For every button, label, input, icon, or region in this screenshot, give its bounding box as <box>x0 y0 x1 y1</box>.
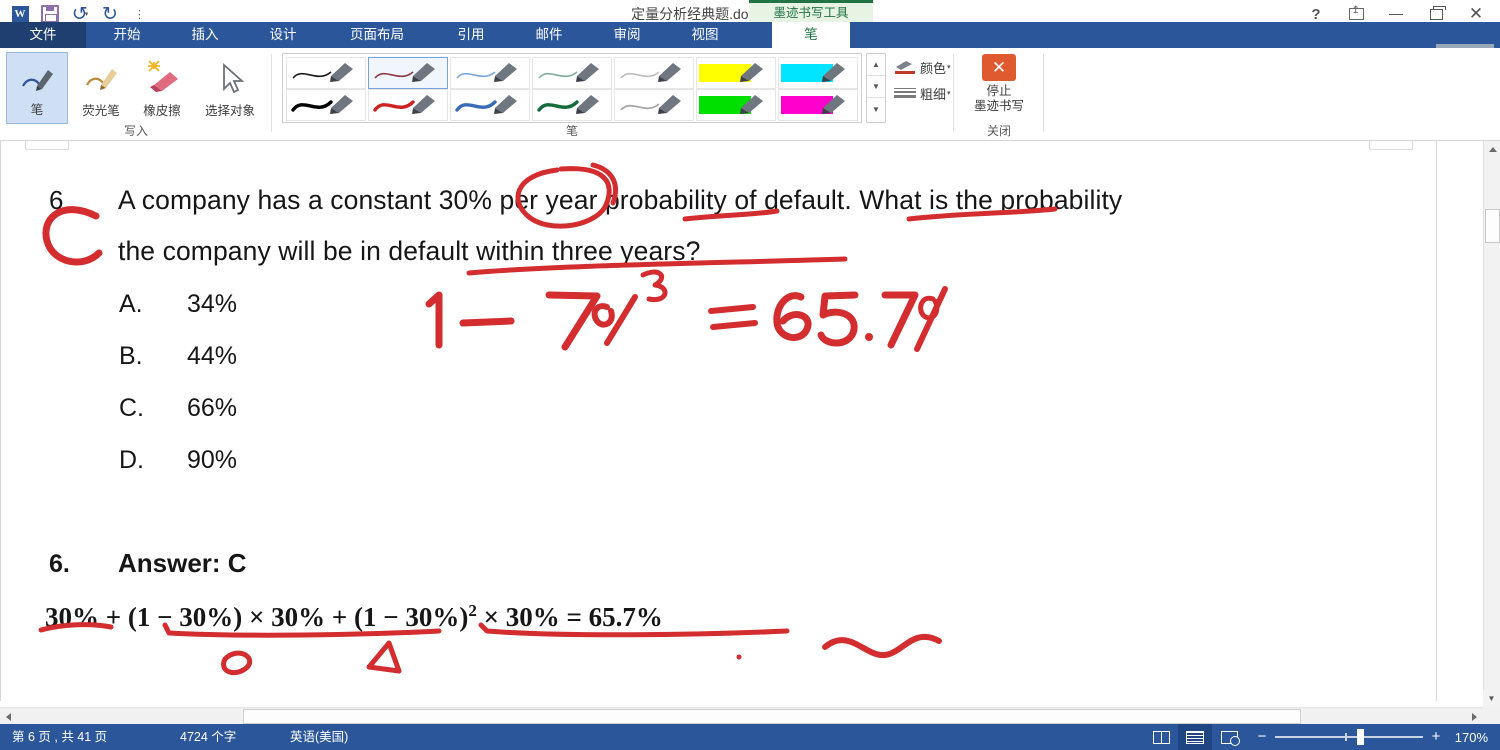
pen-style-11[interactable] <box>532 89 612 121</box>
option-a-letter: A. <box>119 290 143 319</box>
word-window: W ↺▾ ↻ ⋮ 定量分析经典题.docx - Microsoft Word ?… <box>0 0 1500 750</box>
chevron-down-icon[interactable]: ▾ <box>947 89 951 97</box>
option-a-value: 34% <box>187 290 237 319</box>
stop-inking-button[interactable]: ✕ 停止 墨迹书写 <box>957 52 1041 114</box>
highlighter-style-1[interactable] <box>696 57 776 89</box>
context-tab-banner: 墨迹书写工具 <box>749 0 873 22</box>
ink-color-icon <box>894 59 916 75</box>
pen-tool-button[interactable]: 笔 <box>6 52 68 124</box>
gallery-more-icon[interactable]: ▼ <box>867 98 885 120</box>
horizontal-scroll-thumb[interactable] <box>243 709 1301 724</box>
ink-thickness-label: 粗细 <box>920 84 946 103</box>
tab-view[interactable]: 视图 <box>674 22 736 48</box>
scroll-select-browse-object-icon[interactable]: ▼ <box>1483 690 1500 707</box>
page-indicator[interactable]: 第 6 页 , 共 41 页 <box>4 724 115 750</box>
tab-references[interactable]: 引用 <box>440 22 502 48</box>
scrollbar-corner <box>1483 707 1500 724</box>
answer-number: 6. <box>49 550 70 579</box>
ink-thickness-icon <box>894 85 916 101</box>
stop-inking-label-line1: 停止 <box>957 84 1041 99</box>
language-indicator[interactable]: 英语(美国) <box>282 724 356 750</box>
pen-style-9[interactable] <box>368 89 448 121</box>
stop-inking-icon: ✕ <box>982 54 1016 81</box>
tab-file[interactable]: 文件 <box>0 22 86 48</box>
scroll-left-icon[interactable] <box>0 708 17 725</box>
web-layout-icon[interactable] <box>1212 724 1246 750</box>
ink-color-label: 颜色 <box>920 58 946 77</box>
zoom-in-button[interactable]: + <box>1430 730 1442 744</box>
pen-style-1[interactable] <box>286 57 366 89</box>
document-text: 6 A company has a constant 30% per year … <box>1 141 1438 701</box>
tab-insert[interactable]: 插入 <box>174 22 236 48</box>
question-line-1: A company has a constant 30% per year pr… <box>118 185 1122 216</box>
scroll-up-icon[interactable] <box>1484 141 1500 158</box>
select-objects-icon <box>208 59 252 97</box>
pen-style-2[interactable] <box>368 57 448 89</box>
document-page[interactable]: 6 A company has a constant 30% per year … <box>0 141 1437 701</box>
question-number: 6 <box>49 185 63 216</box>
option-c-value: 66% <box>187 394 237 423</box>
zoom-level-label[interactable]: 170% <box>1452 730 1500 745</box>
eraser-icon <box>140 59 184 97</box>
ribbon-group-close-label: 关闭 <box>954 122 1044 139</box>
ribbon-group-write: 笔 荧光笔 <box>0 48 272 141</box>
eraser-tool-button[interactable]: 橡皮擦 <box>131 52 193 124</box>
highlighter-tool-button[interactable]: 荧光笔 <box>70 52 132 124</box>
gallery-scroll-up-icon[interactable]: ▲ <box>867 54 885 76</box>
tab-mailings[interactable]: 邮件 <box>518 22 580 48</box>
tab-review[interactable]: 审阅 <box>596 22 658 48</box>
highlighter-style-4[interactable] <box>778 89 858 121</box>
highlighter-icon <box>79 59 123 97</box>
highlighter-style-3[interactable] <box>696 89 776 121</box>
pen-gallery[interactable] <box>282 53 862 123</box>
pen-gallery-row <box>285 88 859 120</box>
ribbon-group-pens-label: 笔 <box>272 122 872 139</box>
pen-gallery-scroll: ▲ ▼ ▼ <box>866 53 886 123</box>
ribbon: 笔 荧光笔 <box>0 48 1500 141</box>
solution-formula: 30% + (1 − 30%) × 30% + (1 − 30%)2 × 30%… <box>45 601 663 633</box>
print-layout-icon[interactable] <box>1178 724 1212 750</box>
word-count[interactable]: 4724 个字 <box>172 724 244 750</box>
vertical-scroll-thumb[interactable] <box>1485 209 1500 243</box>
pen-style-5[interactable] <box>614 57 694 89</box>
ribbon-group-close: ✕ 停止 墨迹书写 关闭 <box>954 48 1044 141</box>
pen-tool-label: 笔 <box>7 99 67 118</box>
zoom-slider[interactable] <box>1275 736 1423 738</box>
stop-inking-label-line2: 墨迹书写 <box>957 99 1041 114</box>
option-b-value: 44% <box>187 342 237 371</box>
zoom-slider-tick <box>1345 733 1347 741</box>
gallery-scroll-down-icon[interactable]: ▼ <box>867 76 885 98</box>
zoom-out-button[interactable]: − <box>1256 730 1268 744</box>
zoom-control: − + <box>1246 730 1452 744</box>
select-objects-tool-label: 选择对象 <box>192 100 268 119</box>
ribbon-tab-strip: 文件 开始 插入 设计 页面布局 引用 邮件 审阅 视图 笔 登录 <box>0 22 1500 48</box>
word-logo-glyph: W <box>11 5 30 24</box>
tab-page-layout[interactable]: 页面布局 <box>330 22 424 48</box>
question-line-2: the company will be in default within th… <box>118 236 700 267</box>
pen-style-8[interactable] <box>286 89 366 121</box>
horizontal-scrollbar[interactable] <box>0 707 1483 724</box>
tab-design[interactable]: 设计 <box>252 22 314 48</box>
chevron-down-icon[interactable]: ▾ <box>947 63 951 71</box>
select-objects-tool-button[interactable]: 选择对象 <box>192 52 268 124</box>
tab-home[interactable]: 开始 <box>96 22 158 48</box>
tab-pen[interactable]: 笔 <box>772 22 850 48</box>
document-canvas[interactable]: 6 A company has a constant 30% per year … <box>0 141 1466 701</box>
pen-style-10[interactable] <box>450 89 530 121</box>
option-d-letter: D. <box>119 446 144 475</box>
option-b-letter: B. <box>119 342 143 371</box>
pen-style-4[interactable] <box>532 57 612 89</box>
pen-gallery-row <box>285 56 859 88</box>
option-d-value: 90% <box>187 446 237 475</box>
vertical-scrollbar[interactable] <box>1483 141 1500 701</box>
highlighter-tool-label: 荧光笔 <box>70 100 132 119</box>
option-c-letter: C. <box>119 394 144 423</box>
pen-icon <box>15 60 59 98</box>
zoom-slider-thumb[interactable] <box>1357 729 1364 745</box>
status-bar: 第 6 页 , 共 41 页 4724 个字 英语(美国) − + 170% <box>0 724 1500 750</box>
status-bar-right: − + 170% <box>1144 724 1500 750</box>
answer-text: Answer: C <box>118 548 247 579</box>
pen-style-12[interactable] <box>614 89 694 121</box>
eraser-tool-label: 橡皮擦 <box>131 100 193 119</box>
pen-style-3[interactable] <box>450 57 530 89</box>
highlighter-style-2[interactable] <box>778 57 858 89</box>
ribbon-group-write-label: 写入 <box>0 122 272 139</box>
scroll-right-icon[interactable] <box>1466 708 1483 725</box>
read-mode-icon[interactable] <box>1144 724 1178 750</box>
ribbon-group-pens: ▲ ▼ ▼ 颜色 ▾ <box>272 48 954 141</box>
